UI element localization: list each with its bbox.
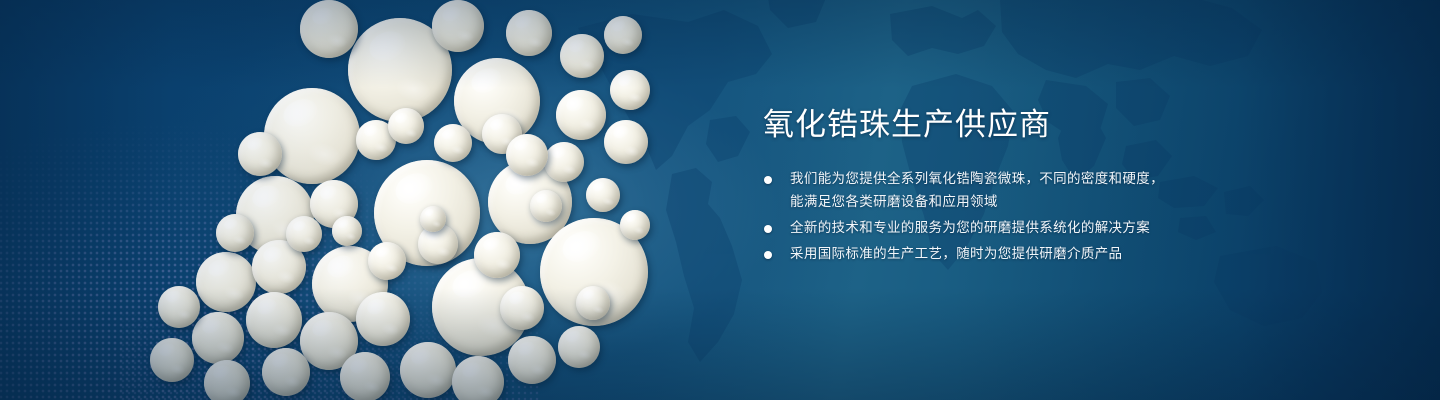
banner-text-block: 氧化锆珠生产供应商 我们能为您提供全系列氧化锆陶瓷微珠，不同的密度和硬度， 能满… <box>763 0 1403 400</box>
bullet-line-1: 全新的技术和专业的服务为您的研磨提供系统化的解决方案 <box>790 220 1150 236</box>
bullet-line-2: 能满足您各类研磨设备和应用领域 <box>790 191 1233 214</box>
bullet-dot-icon <box>764 251 772 259</box>
banner-feature-list: 我们能为您提供全系列氧化锆陶瓷微珠，不同的密度和硬度， 能满足您各类研磨设备和应… <box>763 168 1233 269</box>
list-item: 采用国际标准的生产工艺，随时为您提供研磨介质产品 <box>763 243 1233 266</box>
hero-banner: 氧化锆珠生产供应商 我们能为您提供全系列氧化锆陶瓷微珠，不同的密度和硬度， 能满… <box>0 0 1440 400</box>
bullet-line-1: 采用国际标准的生产工艺，随时为您提供研磨介质产品 <box>790 246 1122 262</box>
bullet-dot-icon <box>764 225 772 233</box>
list-item: 全新的技术和专业的服务为您的研磨提供系统化的解决方案 <box>763 217 1233 240</box>
bullet-line-1: 我们能为您提供全系列氧化锆陶瓷微珠，不同的密度和硬度， <box>790 171 1164 187</box>
list-item: 我们能为您提供全系列氧化锆陶瓷微珠，不同的密度和硬度， 能满足您各类研磨设备和应… <box>763 168 1233 214</box>
banner-headline: 氧化锆珠生产供应商 <box>763 108 1051 144</box>
bullet-dot-icon <box>764 176 772 184</box>
